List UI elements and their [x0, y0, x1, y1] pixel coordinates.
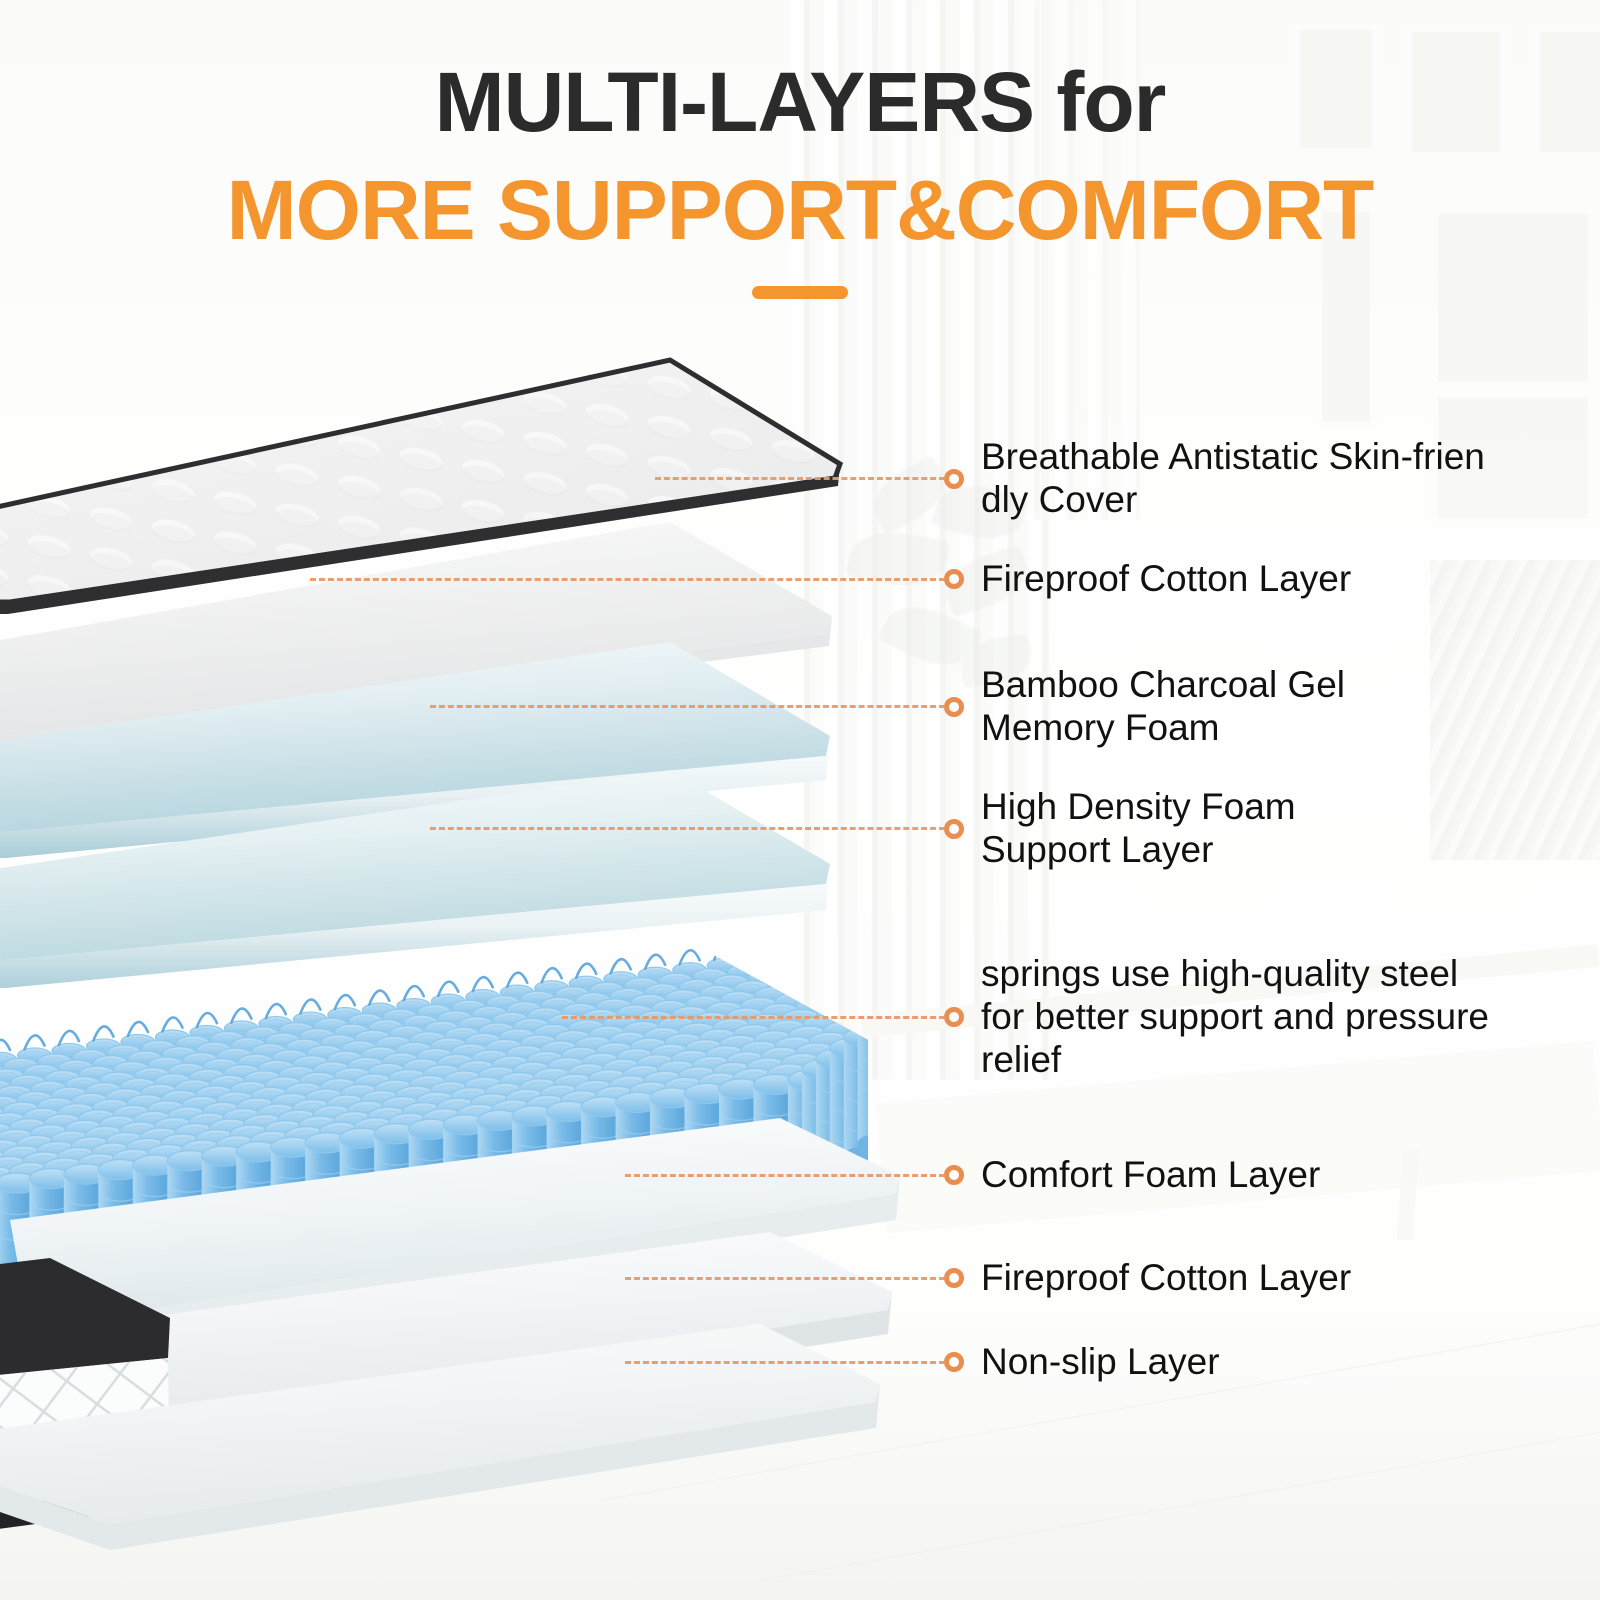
ring-marker-icon [944, 469, 964, 489]
callout-label: High Density Foam Support Layer [981, 786, 1296, 872]
callout-label: Non-slip Layer [981, 1341, 1220, 1384]
callout-label: Breathable Antistatic Skin-frien dly Cov… [981, 436, 1485, 522]
ring-marker-icon [944, 819, 964, 839]
ring-marker-icon [944, 1268, 964, 1288]
callout-bamboo-charcoal-gel: Bamboo Charcoal Gel Memory Foam [430, 664, 1345, 750]
page-subtitle: MORE SUPPORT&COMFORT [0, 144, 1600, 252]
leader-line [625, 1277, 945, 1280]
callout-comfort-foam: Comfort Foam Layer [625, 1154, 1320, 1197]
leader-line [625, 1361, 945, 1364]
ring-marker-icon [944, 569, 964, 589]
ring-marker-icon [944, 1007, 964, 1027]
ring-marker-icon [944, 1165, 964, 1185]
callout-breathable-cover: Breathable Antistatic Skin-frien dly Cov… [655, 436, 1485, 522]
callout-fireproof-cotton-top: Fireproof Cotton Layer [310, 558, 1351, 601]
callout-label: Bamboo Charcoal Gel Memory Foam [981, 664, 1345, 750]
callout-high-density-foam: High Density Foam Support Layer [430, 786, 1296, 872]
heading-block: MULTI-LAYERS for MORE SUPPORT&COMFORT [0, 0, 1600, 299]
leader-line [625, 1174, 945, 1177]
leader-line [310, 578, 945, 581]
layer-non-slip-base [0, 1262, 930, 1600]
window-glass-lower [1430, 560, 1600, 860]
callout-label: Fireproof Cotton Layer [981, 1257, 1351, 1300]
leader-line [430, 827, 945, 830]
ring-marker-icon [944, 1352, 964, 1372]
infographic-canvas: MULTI-LAYERS for MORE SUPPORT&COMFORT [0, 0, 1600, 1600]
callout-label: Comfort Foam Layer [981, 1154, 1320, 1197]
leader-line [562, 1016, 945, 1019]
page-title: MULTI-LAYERS for [0, 0, 1600, 144]
callout-non-slip: Non-slip Layer [625, 1341, 1220, 1384]
leader-line [655, 477, 945, 480]
callout-label: Fireproof Cotton Layer [981, 558, 1351, 601]
accent-divider [752, 286, 848, 299]
callout-pocket-springs: springs use high-quality steel for bette… [562, 953, 1489, 1082]
callout-label: springs use high-quality steel for bette… [981, 953, 1489, 1082]
leader-line [430, 705, 945, 708]
callout-fireproof-cotton-bot: Fireproof Cotton Layer [625, 1257, 1351, 1300]
ring-marker-icon [944, 697, 964, 717]
